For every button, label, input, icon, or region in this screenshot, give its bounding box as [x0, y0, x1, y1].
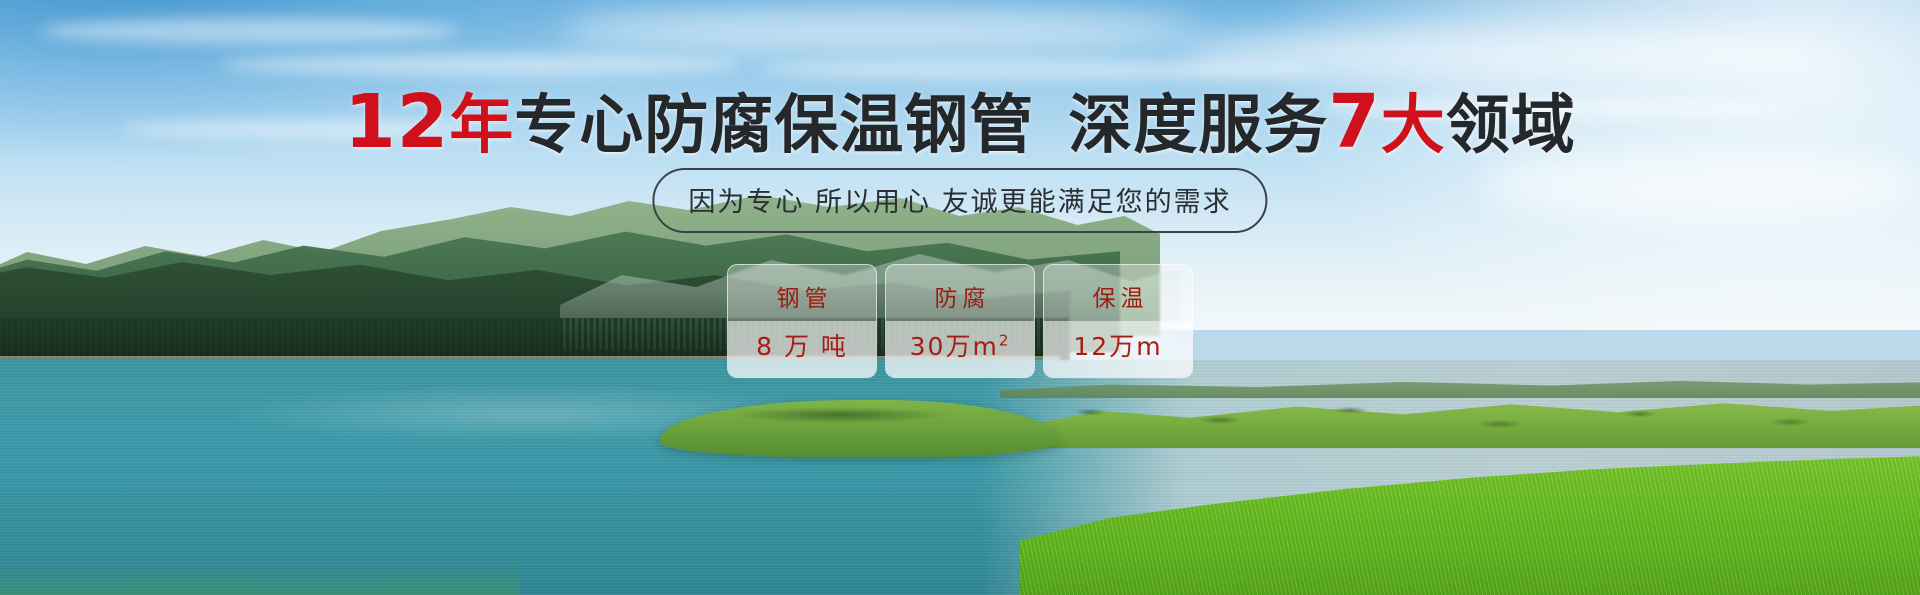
stat-card-value-main: 12万m: [1073, 332, 1162, 361]
stat-card-value: 8 万 吨: [756, 327, 848, 363]
stat-card-value-superscript: 2: [999, 332, 1011, 350]
stat-card-value: 12万m: [1073, 327, 1162, 363]
stat-card-insulation[interactable]: 保温 12万m: [1043, 264, 1193, 378]
grass-island-shadow: [690, 404, 990, 426]
stat-card-anticorrosion[interactable]: 防腐 30万m2: [885, 264, 1035, 378]
headline-fields-text: 领域: [1446, 89, 1576, 163]
grass-bottom-shade: [0, 560, 520, 595]
headline-service-text: 深度服务: [1068, 89, 1328, 163]
stat-card-value: 30万m2: [910, 327, 1011, 363]
stat-card-group: 钢管 8 万 吨 防腐 30万m2 保温 12万m: [727, 264, 1193, 378]
marshland-shrub-texture: [1030, 398, 1920, 446]
cloud-soft-icon: [560, 8, 1200, 52]
stat-card-title: 防腐: [930, 279, 991, 313]
cloud-wisp-icon: [40, 18, 460, 44]
hero-banner: 12年专心防腐保温钢管深度服务7大领域 因为专心 所以用心 友诚更能满足您的需求…: [0, 0, 1920, 595]
banner-headline: 12年专心防腐保温钢管深度服务7大领域: [0, 85, 1920, 159]
stat-card-steel-pipe[interactable]: 钢管 8 万 吨: [727, 264, 877, 378]
headline-fields-number: 7: [1328, 79, 1381, 165]
stat-card-value-main: 8 万 吨: [756, 332, 848, 361]
cloud-wisp-icon: [220, 54, 740, 76]
stat-card-value-main: 30万m: [910, 332, 999, 361]
headline-main-text: 专心防腐保温钢管: [514, 89, 1034, 163]
headline-fields-unit: 大: [1381, 89, 1446, 163]
stat-card-title: 钢管: [772, 279, 833, 313]
headline-years-number: 12: [344, 79, 449, 165]
cloud-soft-icon: [1180, 26, 1800, 84]
banner-subtitle-pill: 因为专心 所以用心 友诚更能满足您的需求: [652, 168, 1267, 233]
stat-card-title: 保温: [1088, 279, 1149, 313]
headline-years-unit: 年: [449, 89, 514, 163]
